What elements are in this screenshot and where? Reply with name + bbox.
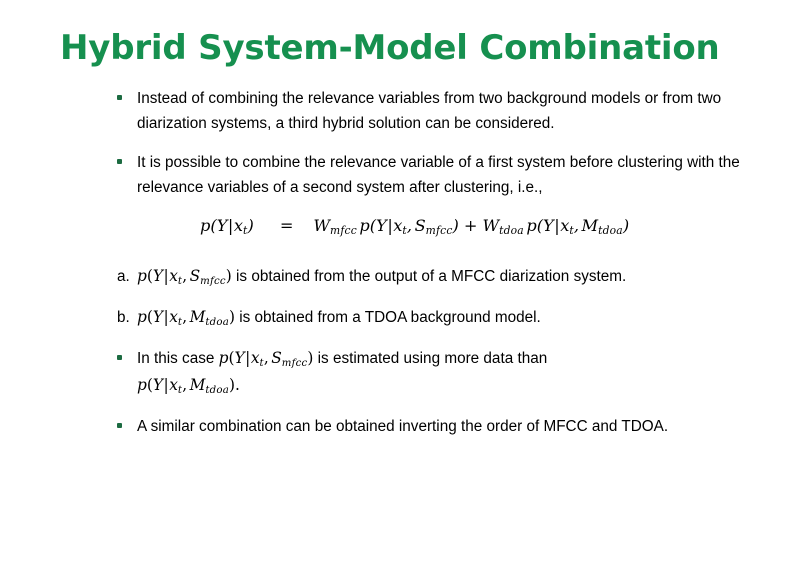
list-item-text: is obtained from a TDOA background model… <box>239 309 541 326</box>
math-p: p <box>137 267 147 285</box>
math-x-sub: t <box>178 276 182 287</box>
slide-body: Instead of combining the relevance varia… <box>0 86 800 453</box>
list-item-marker: a. <box>117 264 130 289</box>
math-close: ) <box>307 349 313 367</box>
eq-term1-Y: Y <box>376 216 387 235</box>
eq-term2-W: W <box>482 216 499 235</box>
list-item-marker: b. <box>117 305 130 330</box>
bullet-dot-icon <box>117 423 122 428</box>
eq-term2-Y: Y <box>543 216 554 235</box>
eq-lhs-x: x <box>234 216 243 235</box>
math2-p: p <box>137 376 147 394</box>
inline-math: p(Y|xt,Smfcc) <box>137 267 232 285</box>
math2-var: M <box>187 376 205 394</box>
eq-term2-W-sub: tdoa <box>499 224 524 237</box>
page-title: Hybrid System-Model Combination <box>60 27 760 69</box>
math-Y: Y <box>153 267 163 285</box>
list-item-text: It is possible to combine the relevance … <box>137 154 740 196</box>
math-Y: Y <box>153 308 163 326</box>
eq-term1-S: S <box>412 216 426 235</box>
list-item-text-before: In this case <box>137 350 214 367</box>
math-close: ) <box>226 267 232 285</box>
inline-math-second: p(Y|xt,Mtdoa). <box>137 376 240 394</box>
list-item: In this case p(Y|xt,Smfcc) is estimated … <box>0 346 800 400</box>
slide: Hybrid System-Model Combination Instead … <box>0 0 800 565</box>
math2-period: . <box>235 376 240 394</box>
eq-plus-sign: + <box>459 216 483 235</box>
eq-term2-x-sub: t <box>569 224 574 237</box>
eq-term2-M-sub: tdoa <box>598 224 623 237</box>
equation-expression: p(Y|xt)=Wmfccp(Y|xt,Smfcc)+Wtdoap(Y|xt,M… <box>200 216 629 235</box>
inline-math: p(Y|xt,Mtdoa) <box>137 308 235 326</box>
bullet-dot-icon <box>117 159 122 164</box>
math-p: p <box>137 308 147 326</box>
eq-term1-x-sub: t <box>402 224 407 237</box>
math-var: M <box>187 308 205 326</box>
math-x: x <box>169 267 178 285</box>
list-item-text: is obtained from the output of a MFCC di… <box>236 268 626 285</box>
math-var-sub: tdoa <box>205 317 229 328</box>
inline-math: p(Y|xt,Smfcc) <box>219 349 314 367</box>
bullet-dot-icon <box>117 95 122 100</box>
math2-Y: Y <box>153 376 163 394</box>
math-close: ) <box>229 308 235 326</box>
list-item-text: Instead of combining the relevance varia… <box>137 90 721 132</box>
math-var-sub: mfcc <box>200 276 226 287</box>
math-x: x <box>251 349 260 367</box>
list-item: Instead of combining the relevance varia… <box>0 86 800 136</box>
math-p: p <box>219 349 229 367</box>
eq-term2-close: ) <box>623 216 629 235</box>
eq-term1-p: p <box>357 216 370 235</box>
eq-lhs-p: p <box>200 216 210 235</box>
eq-term2-p: p <box>524 216 537 235</box>
math-x-sub: t <box>260 358 264 369</box>
eq-term2-M: M <box>579 216 598 235</box>
math-x-sub: t <box>178 317 182 328</box>
eq-term1-close: ) <box>453 216 459 235</box>
display-equation: p(Y|xt)=Wmfccp(Y|xt,Smfcc)+Wtdoap(Y|xt,M… <box>0 216 800 246</box>
eq-term2-x: x <box>560 216 569 235</box>
list-item: It is possible to combine the relevance … <box>0 150 800 200</box>
math2-var-sub: tdoa <box>205 385 229 396</box>
eq-term1-W-sub: mfcc <box>330 224 357 237</box>
list-item-text: A similar combination can be obtained in… <box>137 418 668 435</box>
eq-term1-S-sub: mfcc <box>426 224 453 237</box>
math-var: S <box>187 267 200 285</box>
bullet-dot-icon <box>117 355 122 360</box>
eq-lhs-x-sub: t <box>243 224 248 237</box>
list-item-text-after: is estimated using more data than <box>318 350 548 367</box>
list-item: b. p(Y|xt,Mtdoa) is obtained from a TDOA… <box>0 305 800 332</box>
eq-term1-W: W <box>313 216 330 235</box>
math-x: x <box>169 308 178 326</box>
eq-equals-sign: = <box>254 216 314 235</box>
math-var: S <box>269 349 282 367</box>
math-Y: Y <box>235 349 245 367</box>
math2-x: x <box>169 376 178 394</box>
list-item: a. p(Y|xt,Smfcc) is obtained from the ou… <box>0 264 800 291</box>
math2-x-sub: t <box>178 385 182 396</box>
math-var-sub: mfcc <box>282 358 308 369</box>
list-item: A similar combination can be obtained in… <box>0 414 800 439</box>
math-comma: , <box>264 349 269 367</box>
eq-lhs-Y: Y <box>217 216 228 235</box>
eq-lhs-close: ) <box>248 216 254 235</box>
